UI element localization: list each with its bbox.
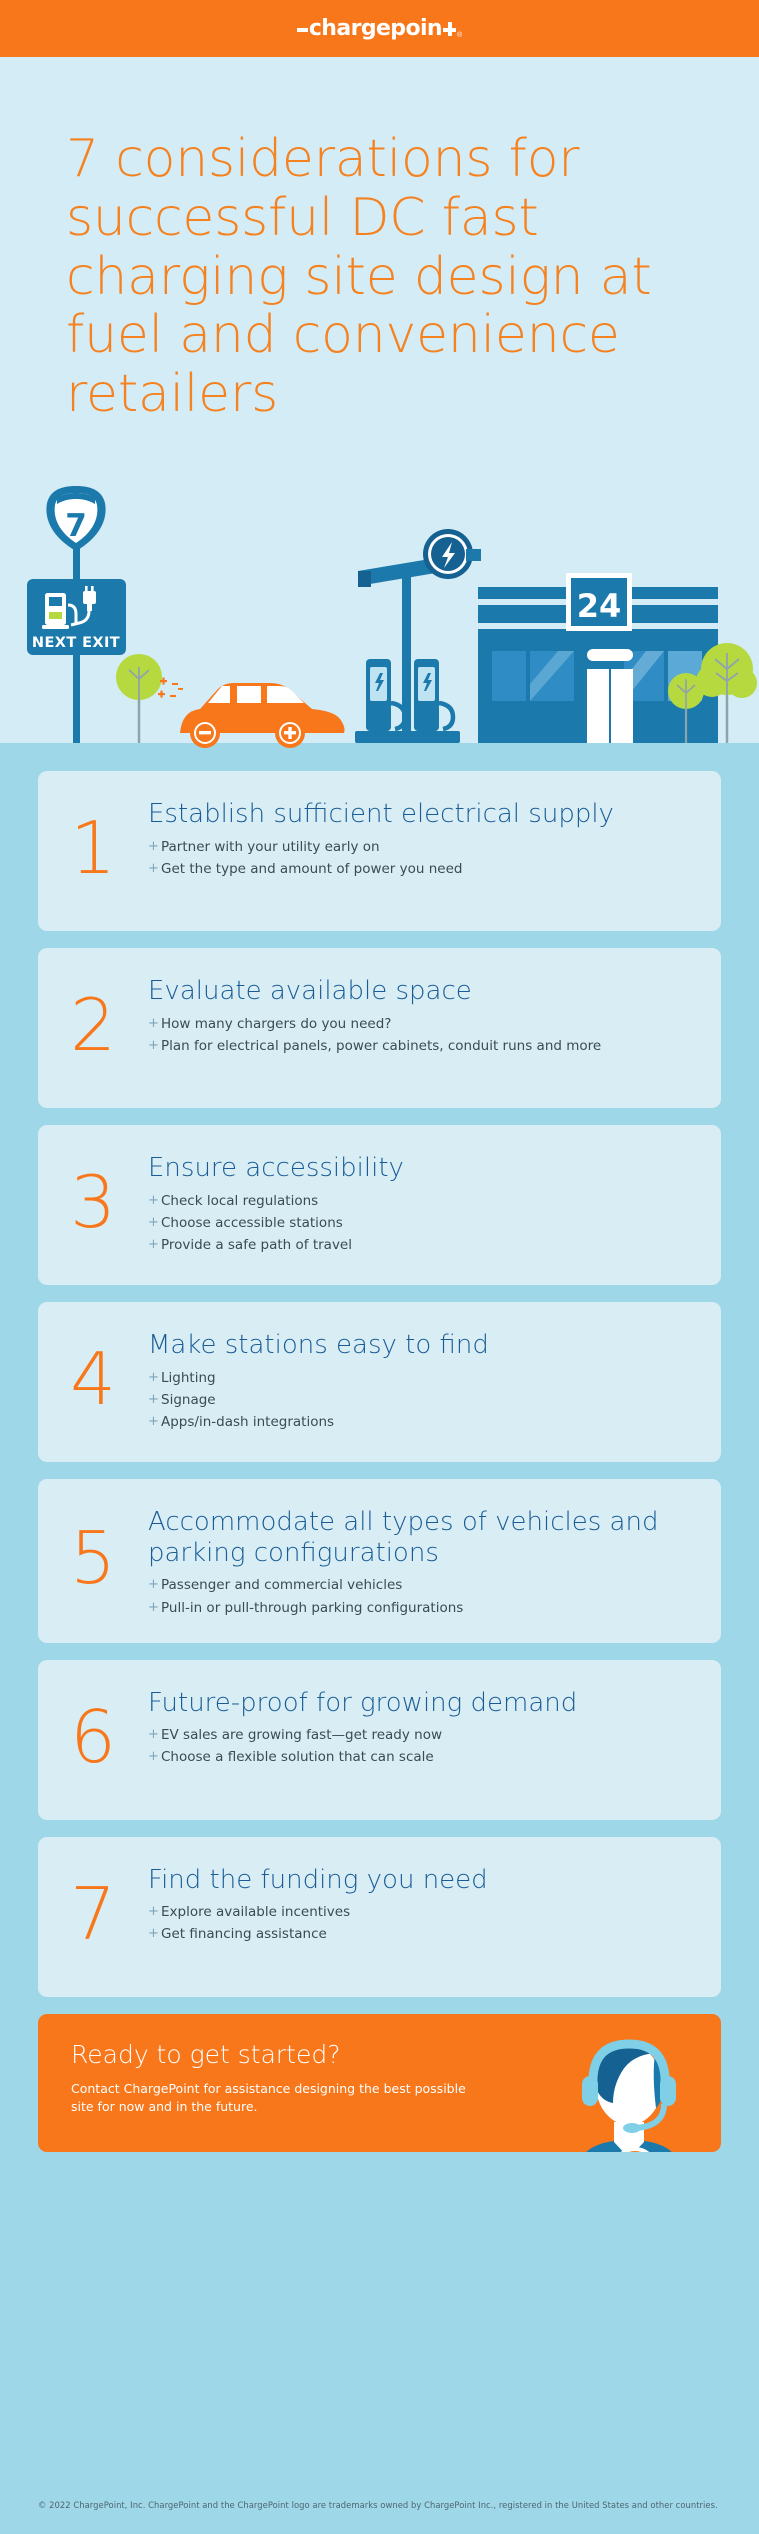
plus-bullet-icon: + [148,838,161,857]
plus-bullet-icon: + [148,1192,161,1211]
card-body: Make stations easy to find + Lighting + … [148,1324,693,1440]
page-title: 7 considerations for successful DC fast … [66,130,706,424]
shield-number: 7 [65,508,87,544]
bullet-text: Get financing assistance [161,1925,693,1944]
support-agent-icon: C [559,2030,699,2152]
plus-bullet-icon: + [148,1413,161,1432]
list-item: + Partner with your utility early on [148,838,693,857]
page-footer: © 2022 ChargePoint, Inc. ChargePoint and… [0,2478,759,2534]
card-bullet-list: + How many chargers do you need? + Plan … [148,1015,693,1056]
next-exit-label: NEXT EXIT [32,635,120,651]
bullet-text: Lighting [161,1369,693,1388]
list-item: + Plan for electrical panels, power cabi… [148,1037,693,1056]
plus-bullet-icon: + [148,1925,161,1944]
considerations-list: 1 Establish sufficient electrical supply… [0,771,759,2152]
interstate-shield-icon: 7 [46,486,105,551]
list-item: + Provide a safe path of travel [148,1236,693,1255]
card-bullet-list: + Partner with your utility early on + G… [148,838,693,879]
list-item: + EV sales are growing fast—get ready no… [148,1726,693,1745]
list-item: + Choose accessible stations [148,1214,693,1233]
sparkle-icon [158,678,183,698]
card-number: 4 [38,1324,148,1440]
card-bullet-list: + Lighting + Signage + Apps/in-dash inte… [148,1369,693,1432]
card-title: Make stations easy to find [148,1330,693,1361]
list-item: + Get financing assistance [148,1925,693,1944]
card-number: 2 [38,970,148,1086]
card-title: Evaluate available space [148,976,693,1007]
plus-bullet-icon: + [148,860,161,879]
list-item: + Signage [148,1391,693,1410]
card-number: 6 [38,1682,148,1798]
bullet-text: Pull-in or pull-through parking configur… [161,1599,693,1618]
store-hours-sign: 24 [577,587,622,625]
logo-plus-icon [443,22,456,36]
plus-bullet-icon: + [148,1748,161,1767]
bullet-text: How many chargers do you need? [161,1015,693,1034]
bullet-text: Get the type and amount of power you nee… [161,860,693,879]
next-exit-sign: NEXT EXIT [27,579,126,655]
plus-bullet-icon: + [148,1726,161,1745]
logo-dash-icon [297,28,308,32]
cta-heading: Ready to get started? [71,2040,340,2069]
charging-canopy-icon [355,529,481,743]
bullet-text: Partner with your utility early on [161,838,693,857]
card-body: Establish sufficient electrical supply +… [148,793,693,909]
card-bullet-list: + Explore available incentives + Get fin… [148,1903,693,1944]
card-bullet-list: + Passenger and commercial vehicles + Pu… [148,1576,693,1617]
card-title: Future-proof for growing demand [148,1688,693,1719]
list-item: + Choose a flexible solution that can sc… [148,1748,693,1767]
plus-bullet-icon: + [148,1576,161,1595]
ev-charger-unit [366,659,405,731]
card-number: 7 [38,1859,148,1975]
list-item: + How many chargers do you need? [148,1015,693,1034]
card-body: Evaluate available space + How many char… [148,970,693,1086]
plus-bullet-icon: + [148,1391,161,1410]
card-body: Find the funding you need + Explore avai… [148,1859,693,1975]
list-item: + Get the type and amount of power you n… [148,860,693,879]
card-number: 5 [38,1501,148,1621]
logo-registered-mark: ® [457,32,462,39]
bullet-text: Choose a flexible solution that can scal… [161,1748,693,1767]
cta-banner[interactable]: Ready to get started? Contact ChargePoin… [38,2014,721,2152]
list-item: + Apps/in-dash integrations [148,1413,693,1432]
infographic-page: chargepoin ® 7 considerations for succes… [0,0,759,2534]
consideration-card[interactable]: 2 Evaluate available space + How many ch… [38,948,721,1108]
card-title: Accommodate all types of vehicles and pa… [148,1507,693,1568]
bullet-text: Plan for electrical panels, power cabine… [161,1037,693,1056]
ev-charger-unit [414,659,453,731]
list-item: + Lighting [148,1369,693,1388]
card-number: 1 [38,793,148,909]
bullet-text: Apps/in-dash integrations [161,1413,693,1432]
convenience-store-icon: 24 [478,573,718,743]
list-item: + Explore available incentives [148,1903,693,1922]
list-item: + Pull-in or pull-through parking config… [148,1599,693,1618]
plus-bullet-icon: + [148,1037,161,1056]
plus-bullet-icon: + [148,1599,161,1618]
card-number: 3 [38,1147,148,1263]
plus-symbol-v [288,727,291,739]
consideration-card[interactable]: 1 Establish sufficient electrical supply… [38,771,721,931]
logo-wordmark: chargepoin [309,18,442,40]
tree-icon [116,654,162,743]
consideration-card[interactable]: 3 Ensure accessibility + Check local reg… [38,1125,721,1285]
minus-symbol [199,731,211,734]
ev-car-icon [158,678,345,748]
list-item: + Check local regulations [148,1192,693,1211]
consideration-card[interactable]: 6 Future-proof for growing demand + EV s… [38,1660,721,1820]
chargepoint-logo[interactable]: chargepoin ® [297,18,462,40]
consideration-card[interactable]: 5 Accommodate all types of vehicles and … [38,1479,721,1643]
bullet-text: EV sales are growing fast—get ready now [161,1726,693,1745]
plus-bullet-icon: + [148,1903,161,1922]
plus-bullet-icon: + [148,1236,161,1255]
bullet-text: Signage [161,1391,693,1410]
plus-bullet-icon: + [148,1015,161,1034]
consideration-card[interactable]: 4 Make stations easy to find + Lighting … [38,1302,721,1462]
card-title: Find the funding you need [148,1865,693,1896]
list-item: + Passenger and commercial vehicles [148,1576,693,1595]
page-header: chargepoin ® [0,0,759,57]
consideration-card[interactable]: 7 Find the funding you need + Explore av… [38,1837,721,1997]
bullet-text: Provide a safe path of travel [161,1236,693,1255]
hero-section: 7 considerations for successful DC fast … [0,57,759,771]
hero-illustration: 7 [0,481,759,771]
ground-strip [0,743,759,771]
bullet-text: Check local regulations [161,1192,693,1211]
bullet-text: Explore available incentives [161,1903,693,1922]
card-body: Future-proof for growing demand + EV sal… [148,1682,693,1798]
card-body: Ensure accessibility + Check local regul… [148,1147,693,1263]
plus-bullet-icon: + [148,1369,161,1388]
plus-bullet-icon: + [148,1214,161,1233]
bullet-text: Choose accessible stations [161,1214,693,1233]
cta-subtext: Contact ChargePoint for assistance desig… [71,2080,491,2116]
bullet-text: Passenger and commercial vehicles [161,1576,693,1595]
card-bullet-list: + Check local regulations + Choose acces… [148,1192,693,1255]
card-bullet-list: + EV sales are growing fast—get ready no… [148,1726,693,1767]
highway-sign: 7 [27,486,126,743]
card-title: Establish sufficient electrical supply [148,799,693,830]
card-title: Ensure accessibility [148,1153,693,1184]
copyright-text: © 2022 ChargePoint, Inc. ChargePoint and… [38,2500,718,2510]
card-body: Accommodate all types of vehicles and pa… [148,1501,693,1621]
